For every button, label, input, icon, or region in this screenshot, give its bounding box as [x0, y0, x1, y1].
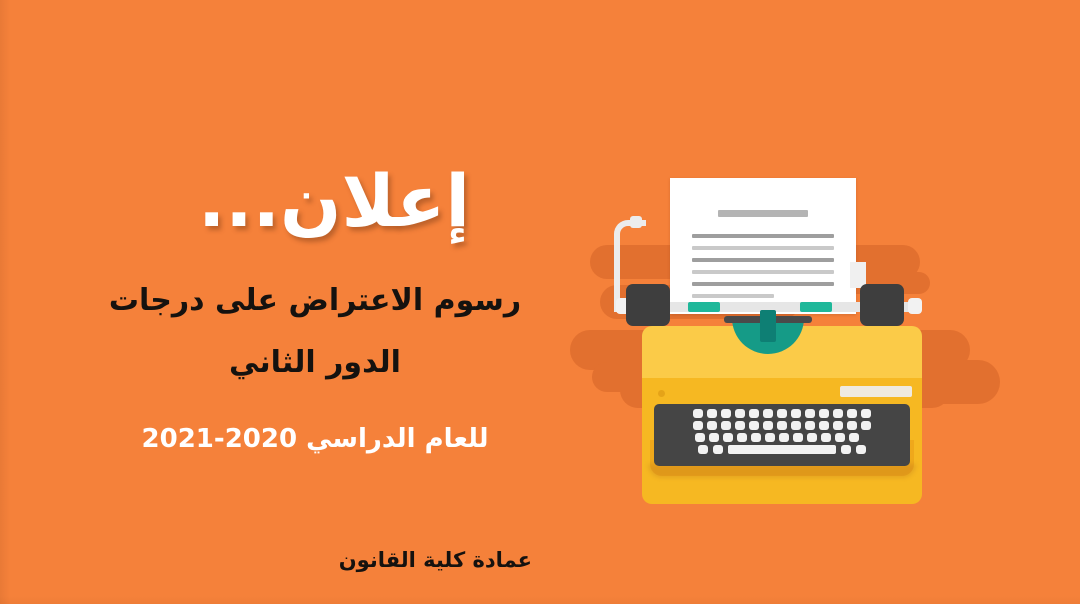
paper-guide-mark: [688, 302, 720, 312]
subtitle-line-2: الدور الثاني: [80, 340, 550, 387]
typewriter-key: [713, 445, 723, 454]
typewriter-key: [833, 421, 843, 430]
paper-guide-mark: [800, 302, 832, 312]
type-guide-tab: [760, 310, 776, 342]
typewriter-key: [721, 409, 731, 418]
typewriter-key: [735, 421, 745, 430]
typewriter-key: [821, 433, 831, 442]
typewriter-key: [693, 409, 703, 418]
typewriter-key: [707, 421, 717, 430]
paper-text-line: [692, 246, 834, 250]
typewriter-key: [751, 433, 761, 442]
typewriter-key: [695, 433, 705, 442]
academic-year-label: للعام الدراسي 2020-2021: [80, 424, 550, 454]
typewriter-key: [777, 421, 787, 430]
typewriter-key: [777, 409, 787, 418]
paper-text-line: [692, 282, 834, 286]
typewriter-key: [791, 421, 801, 430]
typewriter-illustration: [592, 178, 972, 468]
typewriter-key: [805, 421, 815, 430]
paper-sheet-icon: [670, 178, 856, 314]
paper-text-line: [692, 294, 774, 298]
typewriter-key: [698, 445, 708, 454]
typewriter-key: [707, 409, 717, 418]
roller-shaft-cap-right: [908, 298, 922, 314]
typewriter-spacebar: [728, 445, 836, 454]
paper-text-line: [692, 258, 834, 262]
typewriter-key: [847, 409, 857, 418]
typewriter-key: [819, 421, 829, 430]
body-light-strip: [840, 386, 912, 397]
typewriter-drop-shadow: [648, 464, 916, 478]
subtitle-line-1: رسوم الاعتراض على درجات: [80, 278, 550, 325]
text-column: إعلان... رسوم الاعتراض على درجات الدور ا…: [0, 0, 560, 604]
announcement-slide: إعلان... رسوم الاعتراض على درجات الدور ا…: [0, 0, 1080, 604]
typewriter-key: [779, 433, 789, 442]
typewriter-key: [819, 409, 829, 418]
typewriter-key: [793, 433, 803, 442]
body-indicator-dot-icon: [658, 390, 665, 397]
typewriter-key: [833, 409, 843, 418]
typewriter-key: [749, 421, 759, 430]
key-row: [660, 409, 904, 418]
key-row: [660, 433, 904, 442]
typewriter-key: [856, 445, 866, 454]
typewriter-key: [847, 421, 857, 430]
typewriter-key: [849, 433, 859, 442]
footer-organization-label: عمادة كلية القانون: [339, 548, 532, 572]
typewriter-key: [763, 409, 773, 418]
typewriter-key: [693, 421, 703, 430]
platen-knob-left-icon: [626, 284, 670, 326]
typewriter-key: [835, 433, 845, 442]
typewriter-key: [861, 421, 871, 430]
platen-knob-right-icon: [860, 284, 904, 326]
carriage-lever-knob-icon: [630, 216, 642, 228]
headline-announcement: إعلان...: [198, 165, 470, 237]
typewriter-key: [721, 421, 731, 430]
typewriter-key: [723, 433, 733, 442]
typewriter-key: [805, 409, 815, 418]
typewriter-key: [861, 409, 871, 418]
typewriter-key: [735, 409, 745, 418]
typewriter-key: [841, 445, 851, 454]
key-row: [660, 421, 904, 430]
typewriter-key: [807, 433, 817, 442]
paper-text-line: [692, 234, 834, 238]
typewriter-key: [709, 433, 719, 442]
typewriter-key: [737, 433, 747, 442]
typewriter-key: [749, 409, 759, 418]
typewriter-key: [791, 409, 801, 418]
paper-heading-line: [718, 210, 808, 217]
typewriter-key: [765, 433, 775, 442]
key-row-spacebar: [660, 445, 904, 454]
typewriter-key: [763, 421, 773, 430]
paper-text-line: [692, 270, 834, 274]
typewriter-keyboard: [654, 404, 910, 466]
